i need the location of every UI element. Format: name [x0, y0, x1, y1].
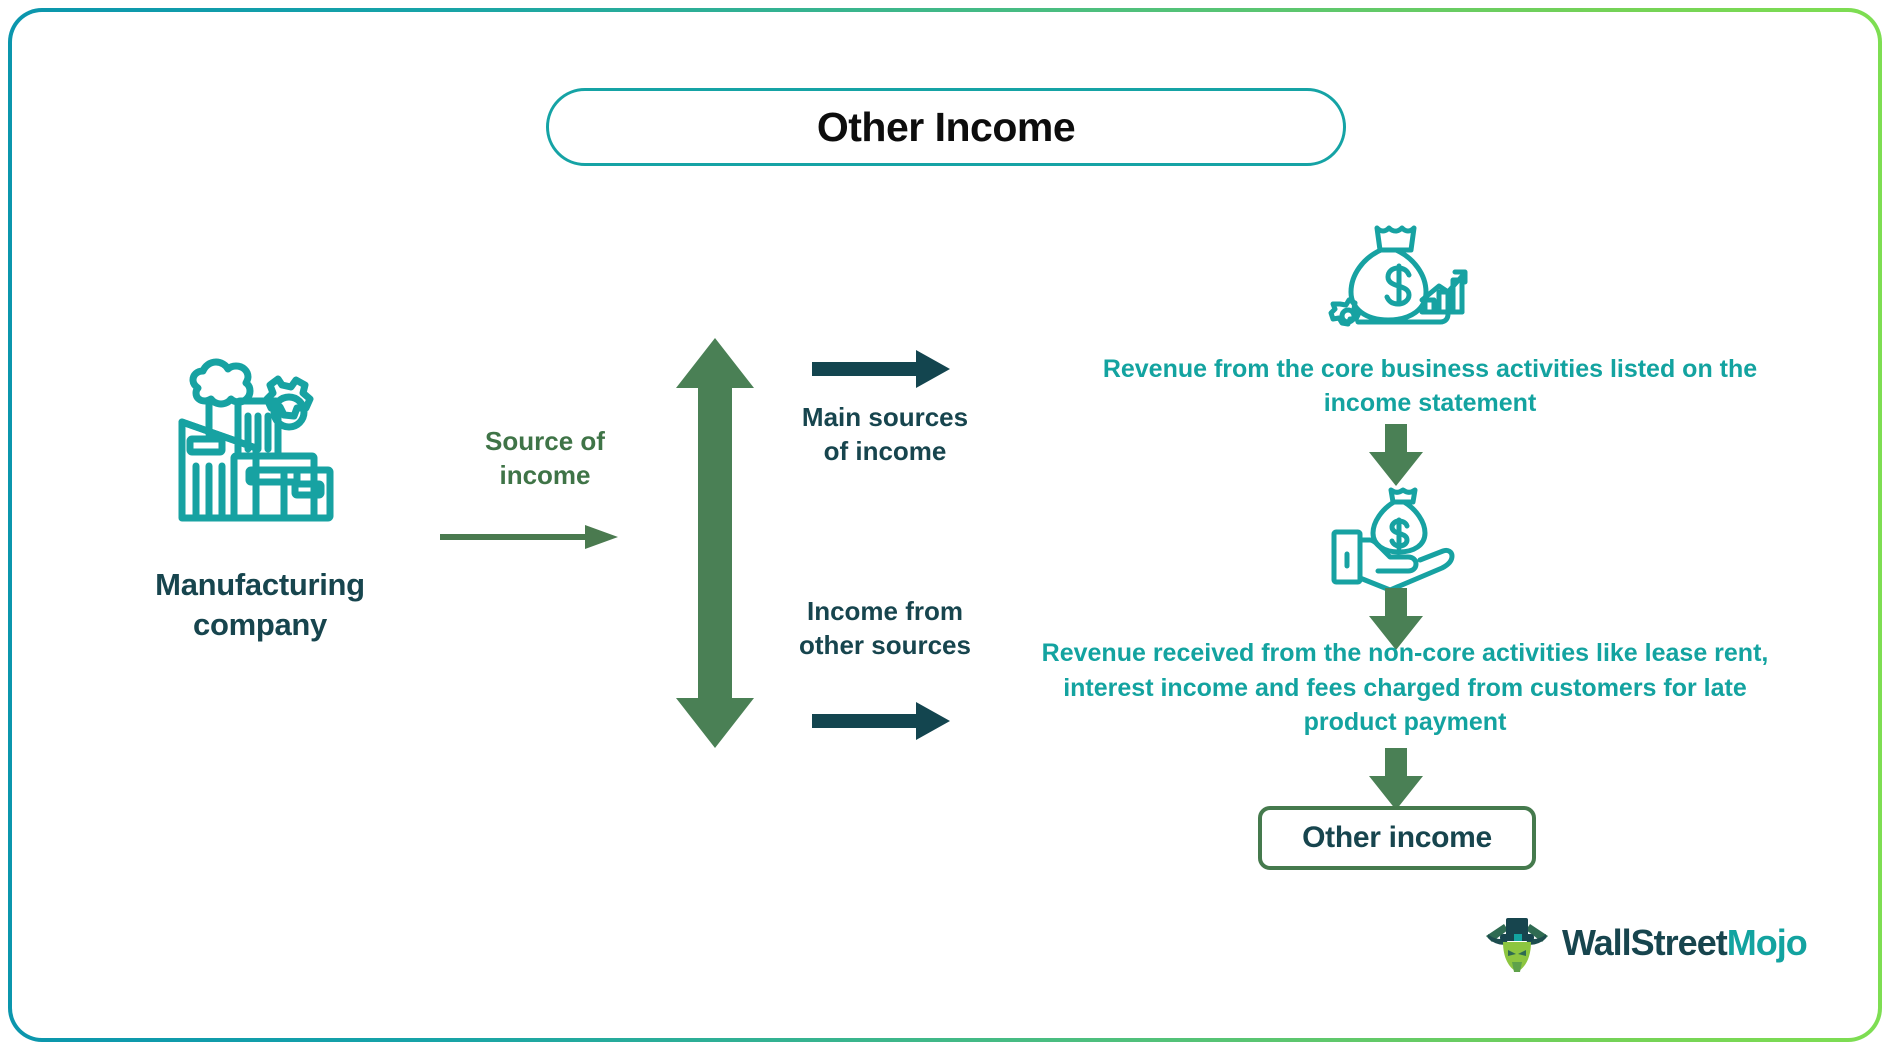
money-bag-growth-chart-icon [1322, 222, 1472, 340]
hand-holding-money-bag-icon [1328, 486, 1478, 598]
other-sources-arrow [812, 700, 952, 742]
down-arrow-3 [1369, 748, 1423, 810]
other-sources-line-1: Income from [740, 594, 1030, 628]
wallstreetmojo-logo: WallStreetMojo [1484, 910, 1804, 976]
main-sources-arrow [812, 348, 952, 390]
mfg-label-line-1: Manufacturing [60, 565, 460, 605]
main-sources-of-income-label: Main sources of income [740, 400, 1030, 469]
infographic-canvas: Other Income Manufactu [0, 0, 1890, 1050]
logo-word-primary: WallStreet [1562, 922, 1727, 963]
title-pill: Other Income [546, 88, 1346, 166]
source-of-income-arrow [440, 520, 620, 554]
source-of-income-label: Source of income [390, 424, 700, 493]
income-from-other-sources-label: Income from other sources [740, 594, 1030, 663]
core-business-revenue-text: Revenue from the core business activitie… [1080, 352, 1780, 420]
main-sources-line-1: Main sources [740, 400, 1030, 434]
logo-wordmark: WallStreetMojo [1562, 922, 1807, 964]
down-arrow-1 [1369, 424, 1423, 486]
non-core-revenue-text: Revenue received from the non-core activ… [1030, 636, 1780, 740]
mfg-label-line-2: company [60, 605, 460, 645]
other-income-result-box: Other income [1258, 806, 1536, 870]
bull-logo-icon [1484, 912, 1550, 974]
other-income-label: Other income [1302, 821, 1492, 855]
factory-gear-icon [156, 344, 356, 534]
source-label-line-2: income [390, 458, 700, 492]
page-title: Other Income [817, 104, 1075, 151]
source-label-line-1: Source of [390, 424, 700, 458]
other-sources-line-2: other sources [740, 628, 1030, 662]
manufacturing-company-label: Manufacturing company [60, 565, 460, 644]
logo-word-accent: Mojo [1727, 922, 1807, 963]
main-sources-line-2: of income [740, 434, 1030, 468]
